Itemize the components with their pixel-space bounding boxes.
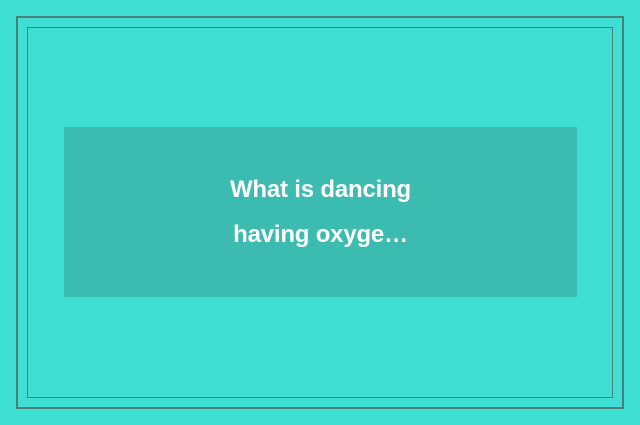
panel-text: What is dancing having oxyge… [213,167,428,257]
quote-card: What is dancing having oxyge… [0,0,640,425]
text-panel: What is dancing having oxyge… [64,127,577,297]
